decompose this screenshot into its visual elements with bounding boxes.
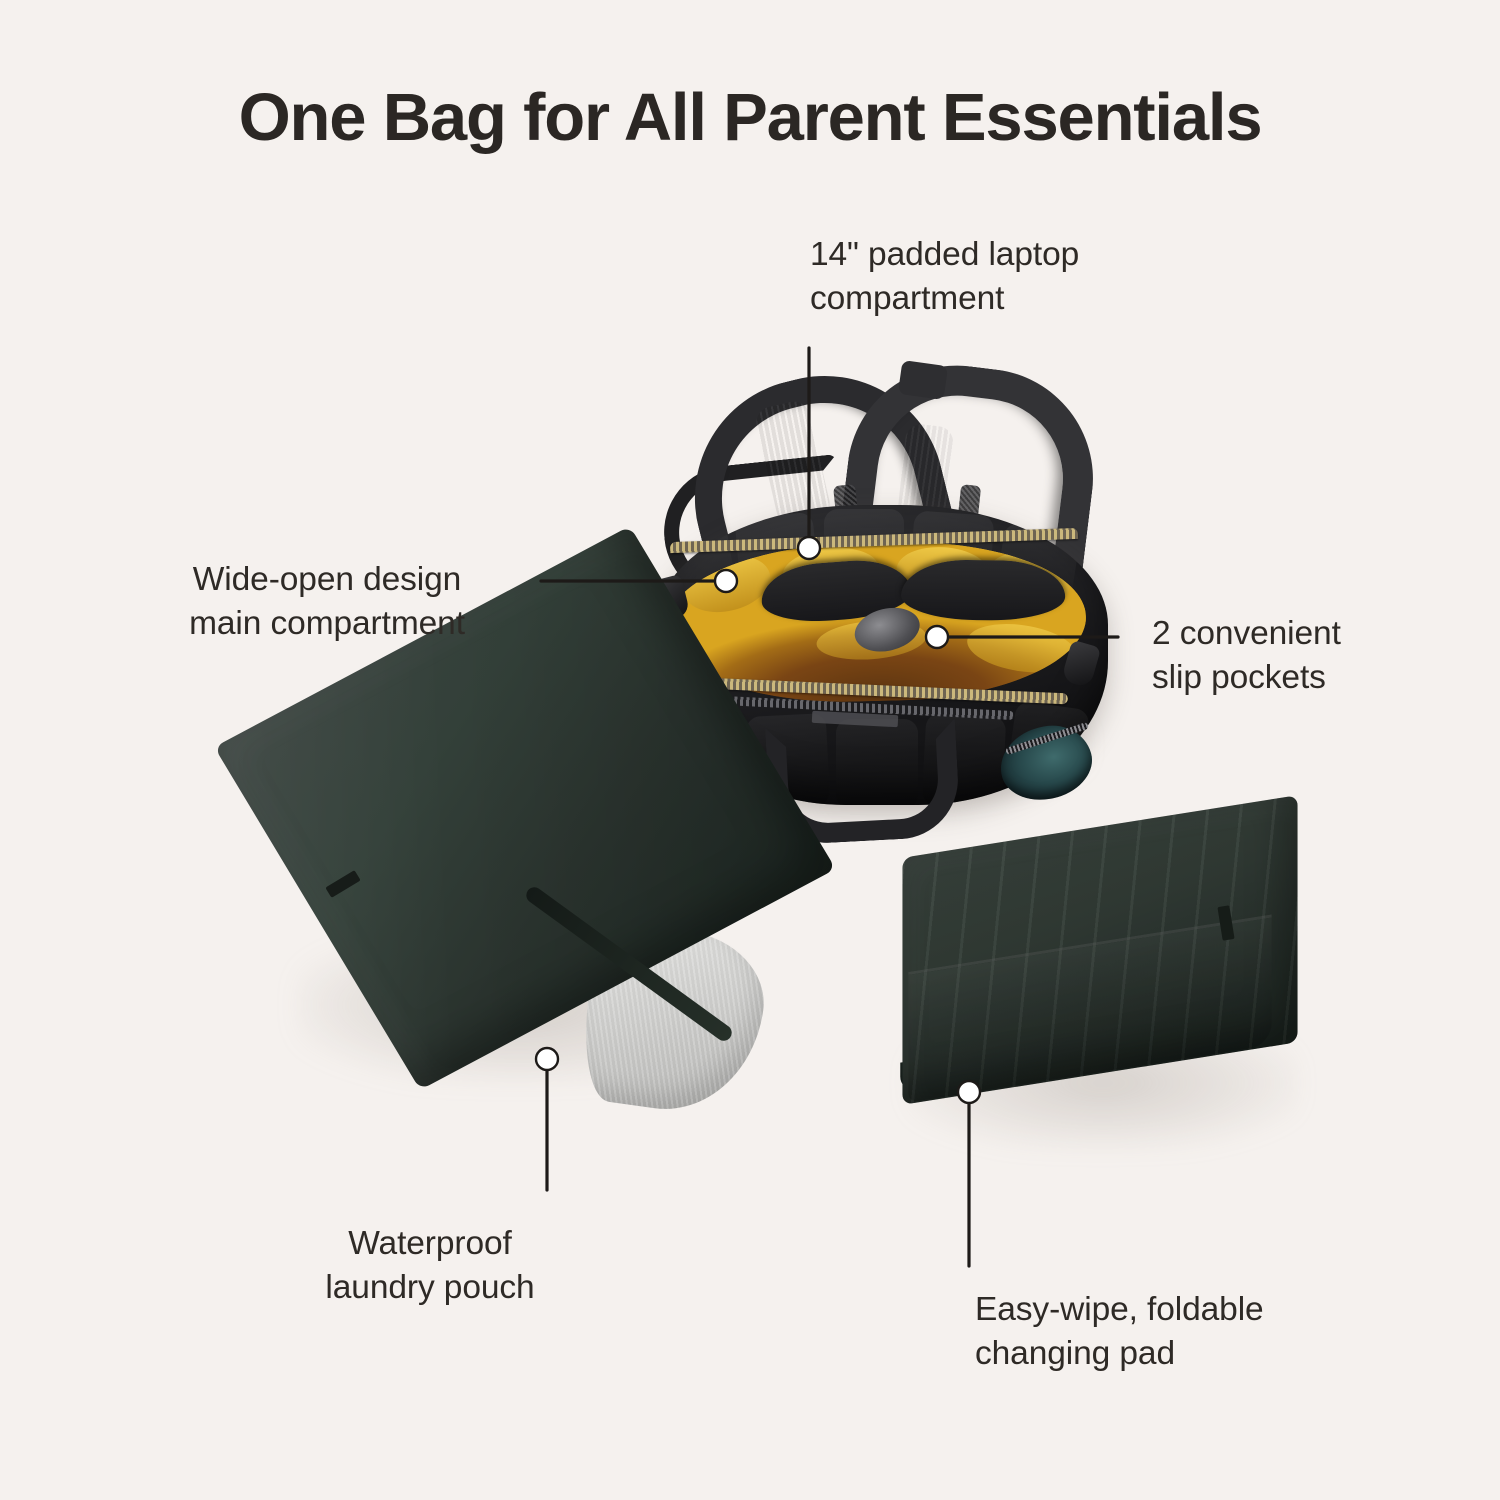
callout-label-laundry-pouch: Waterproof laundry pouch [240,1222,620,1309]
callout-label-slip-pockets: 2 convenient slip pockets [1152,612,1482,699]
infographic-page: One Bag for All Parent Essentials 14" pa… [0,0,1500,1500]
product-changing-pad [890,818,1320,1148]
product-laundry-pouch [268,600,828,1120]
product-photo [0,0,1500,1500]
callout-label-main-compartment: Wide-open design main compartment [108,558,546,645]
sternum-strap-buckle [898,360,948,400]
page-title: One Bag for All Parent Essentials [0,83,1500,153]
callout-label-changing-pad: Easy-wipe, foldable changing pad [975,1288,1395,1375]
slip-pocket-right [901,559,1066,620]
callout-label-laptop-compartment: 14" padded laptop compartment [810,233,1240,320]
